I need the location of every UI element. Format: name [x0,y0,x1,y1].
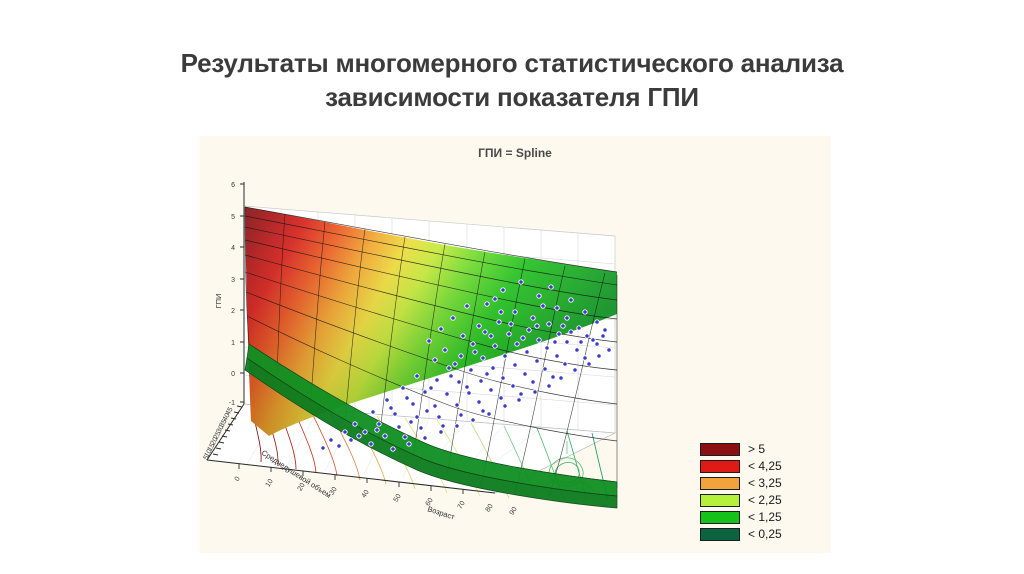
page-title-line-2: зависимости показателя ГПИ [0,80,1024,114]
legend-swatch-gt-5 [700,443,740,456]
legend-item: < 2,25 [700,492,825,508]
z-tick-0: 0 [231,371,235,378]
legend-label-lt-325: < 3,25 [748,476,782,490]
legend-label-lt-125: < 1,25 [748,510,782,524]
legend-swatch-lt-325 [700,477,740,490]
y-tick-70: 70 [457,500,467,510]
page-title: Результаты многомерного статистического … [0,46,1024,114]
legend-swatch-lt-125 [700,511,740,524]
legend-swatch-lt-025 [700,528,740,541]
z-axis-title: ГПИ [214,294,223,309]
chart-panel: ГПИ = Spline [199,136,831,553]
z-axis: 6 5 4 3 2 1 0 -1 ГПИ [214,182,244,407]
legend-item: < 3,25 [700,475,825,491]
legend-swatch-lt-225 [700,494,740,507]
z-tick-2: 2 [231,308,235,315]
z-tick-1: 1 [231,340,235,347]
y-tick-80: 80 [485,503,495,513]
y-tick-0: 0 [234,476,242,483]
z-tick-6: 6 [231,182,235,189]
legend-item: > 5 [700,441,825,457]
legend-label-lt-425: < 4,25 [748,459,782,473]
legend-label-lt-025: < 0,25 [748,527,782,541]
z-tick-4: 4 [231,245,235,252]
legend-swatch-lt-425 [700,460,740,473]
y-tick-10: 10 [265,478,275,488]
z-tick-5: 5 [231,214,235,221]
y-tick-50: 50 [393,493,403,503]
y-axis-title: Возраст [426,504,456,521]
y-tick-40: 40 [361,489,371,499]
page-title-line-1: Результаты многомерного статистического … [0,46,1024,80]
legend-label-gt-5: > 5 [748,442,765,456]
legend-item: < 1,25 [700,509,825,525]
color-band-legend: > 5 < 4,25 < 3,25 < 2,25 < 1,25 < 0,25 [700,441,825,543]
legend-item: < 0,25 [700,526,825,542]
legend-item: < 4,25 [700,458,825,474]
y-tick-90: 90 [509,506,519,516]
z-tick-minus1: -1 [229,400,235,407]
legend-label-lt-225: < 2,25 [748,493,782,507]
z-tick-3: 3 [231,277,235,284]
